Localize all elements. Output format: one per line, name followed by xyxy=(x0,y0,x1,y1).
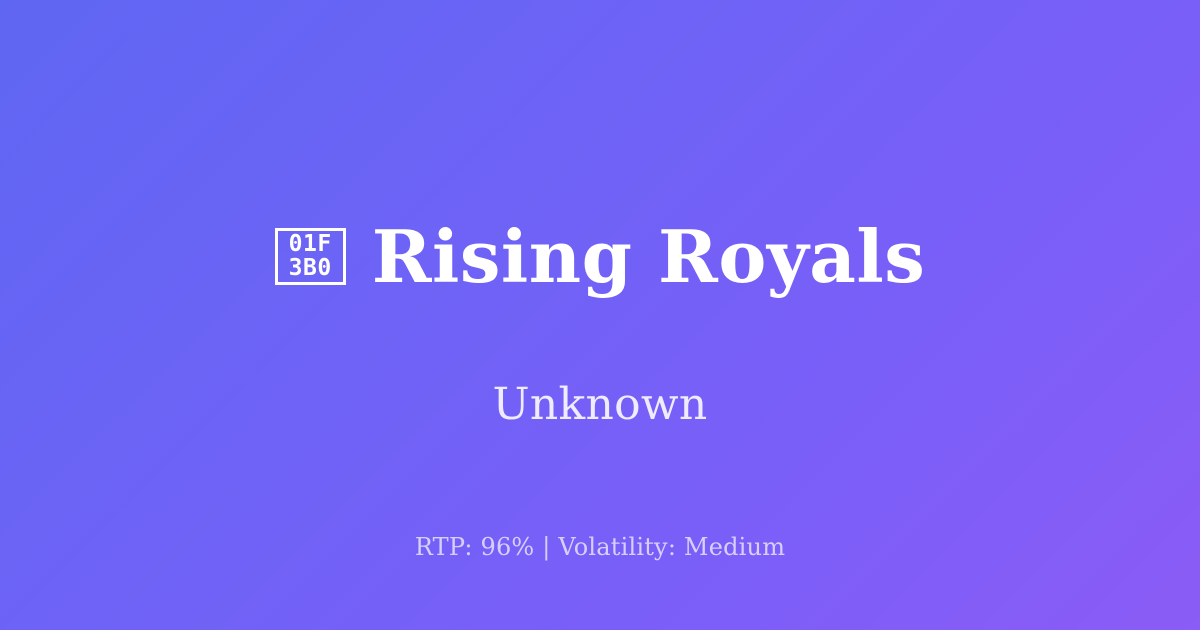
title-row: 01F 3B0 Rising Royals xyxy=(275,171,926,343)
slot-machine-icon: 01F 3B0 xyxy=(275,228,346,285)
game-meta-line: RTP: 96% | Volatility: Medium xyxy=(0,533,1200,562)
tofu-hex-bottom: 3B0 xyxy=(289,257,332,280)
tofu-hex-top: 01F xyxy=(289,233,332,256)
game-og-card: 01F 3B0 Rising Royals Unknown RTP: 96% |… xyxy=(0,0,1200,630)
game-provider-subtitle: Unknown xyxy=(492,381,707,429)
card-content-stack: 01F 3B0 Rising Royals Unknown xyxy=(0,171,1200,429)
page-title: Rising Royals xyxy=(372,219,926,295)
